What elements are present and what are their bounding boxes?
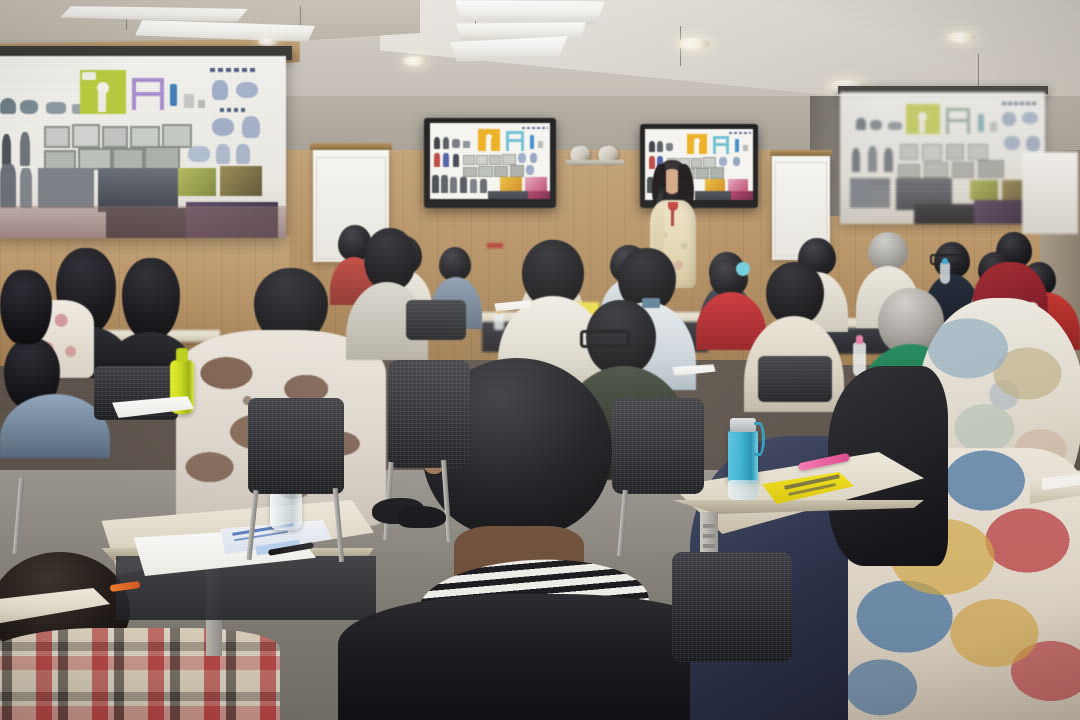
chair-right xyxy=(612,398,704,494)
seminar-room-photo: 16 Years Ago Today Seminar room presenta… xyxy=(0,0,1080,720)
desk-leg-slot xyxy=(703,534,715,538)
bottle-cap-icon xyxy=(730,418,756,432)
slide-surface-left xyxy=(0,56,286,238)
ceiling-light-panel xyxy=(455,0,605,24)
attendee-mid-left-3 xyxy=(0,270,64,376)
plaid-shirt xyxy=(0,628,280,720)
desk-leg-slot xyxy=(703,544,715,548)
speaker-shelf xyxy=(566,160,624,165)
ceiling-downlight xyxy=(258,38,278,46)
presenter-arm xyxy=(652,208,665,250)
shoe xyxy=(398,506,446,528)
tv-left-screen xyxy=(430,123,550,199)
chair-back-center xyxy=(406,300,466,340)
slide-heading-right xyxy=(1002,102,1036,105)
chair-center xyxy=(388,360,470,468)
chair-mid-left xyxy=(248,398,344,494)
bottle-cyan-right xyxy=(728,418,758,500)
ceiling-downlight xyxy=(676,38,710,50)
slide-surface-right xyxy=(840,92,1045,224)
bottle-lanyard-icon xyxy=(754,422,765,456)
flat-screen-tv-left[interactable] xyxy=(424,118,556,208)
projection-screen-right[interactable] xyxy=(840,92,1045,224)
presenter-placket xyxy=(671,208,674,226)
chair-back-right xyxy=(758,356,832,402)
ceiling-downlight xyxy=(402,56,428,66)
slide-subheading-left xyxy=(220,108,248,112)
ceiling-downlight xyxy=(946,32,976,43)
desk-leg-slot xyxy=(703,524,715,528)
bottle-mineral-mid xyxy=(940,258,950,284)
attendee-mid-center-grey xyxy=(346,228,428,360)
chair-farright xyxy=(672,552,792,662)
projection-screen-left[interactable] xyxy=(0,56,286,238)
eyeglasses-icon xyxy=(580,330,630,348)
bottle-cap-icon xyxy=(176,348,188,362)
slide-heading-left xyxy=(210,68,258,72)
whiteboard-right[interactable] xyxy=(1022,152,1078,234)
